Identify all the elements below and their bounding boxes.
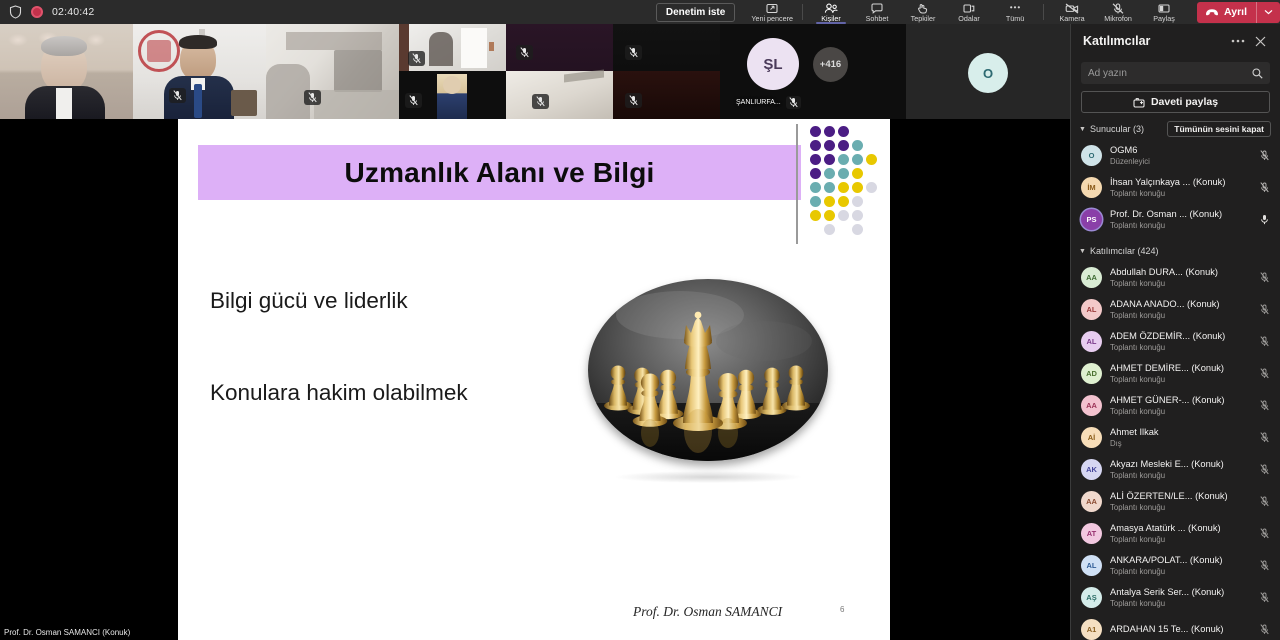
avatar: İM <box>1081 177 1102 198</box>
camera-off-icon <box>1065 3 1079 14</box>
toolbar-item-rooms[interactable]: Odalar <box>946 0 992 24</box>
recording-status: 02:40:42 <box>0 5 94 19</box>
microphone-off-icon <box>1112 3 1124 14</box>
breakout-rooms-icon <box>963 3 975 14</box>
video-tile-2[interactable] <box>133 24 266 119</box>
mic-off-badge <box>625 93 642 108</box>
list-item[interactable]: AL ADANA ANADO... (Konuk) Toplantı konuğ… <box>1071 293 1280 325</box>
slide-body-line: Konulara hakim olabilmek <box>210 381 610 406</box>
more-ellipsis-icon[interactable] <box>1226 39 1250 43</box>
group-header-presenters[interactable]: ▼ Sunucular (3) Tümünün sesini kapat <box>1079 121 1271 137</box>
participant-role: Toplantı konuğu <box>1110 406 1257 417</box>
participant-role: Toplantı konuğu <box>1110 188 1257 199</box>
mic-off-icon[interactable] <box>1257 336 1271 347</box>
reactions-icon <box>917 3 930 14</box>
list-item[interactable]: İM İhsan Yalçınkaya ... (Konuk) Toplantı… <box>1071 171 1280 203</box>
tile-participant-name: ŞANLIURFA... <box>736 99 781 106</box>
more-ellipsis-icon <box>1008 3 1022 14</box>
participant-role: Toplantı konuğu <box>1110 534 1257 545</box>
shared-content-stage: Uzmanlık Alanı ve Bilgi <box>0 119 1070 640</box>
group-header-attendees[interactable]: ▼ Katılımcılar (424) <box>1079 243 1271 259</box>
leave-button-label: Ayrıl <box>1224 6 1247 18</box>
participant-role: Toplantı konuğu <box>1110 220 1257 231</box>
avatar-initials: AA <box>1086 497 1097 506</box>
avatar-initials: ŞL <box>763 56 782 73</box>
toolbar-label: Kişiler <box>821 14 841 24</box>
avatar-initials: O <box>983 66 993 81</box>
avatar-initials: PS <box>1086 215 1096 224</box>
overflow-participants-badge[interactable]: +416 <box>813 47 848 82</box>
toolbar-item-new-window[interactable]: Yeni pencere <box>747 0 797 24</box>
avatar: AT <box>1081 523 1102 544</box>
avatar: AŞ <box>1081 587 1102 608</box>
video-tile-1[interactable] <box>0 24 133 119</box>
slide-title-band: Uzmanlık Alanı ve Bilgi <box>198 145 801 200</box>
mic-off-icon[interactable] <box>1257 272 1271 283</box>
toolbar-item-chat[interactable]: Sohbet <box>854 0 900 24</box>
chess-queen-and-pawns-image <box>588 279 828 461</box>
avatar-initials: O <box>1089 151 1095 160</box>
mic-off-icon[interactable] <box>1257 496 1271 507</box>
slide-body-text: Bilgi gücü ve liderlik Konulara hakim ol… <box>210 289 610 406</box>
slide-author: Prof. Dr. Osman SAMANCI <box>633 604 782 620</box>
list-item[interactable]: A1 ARDAHAN 15 Te... (Konuk) <box>1071 613 1280 640</box>
mic-off-icon[interactable] <box>1257 368 1271 379</box>
participant-search[interactable] <box>1081 62 1270 84</box>
avatar-initials: AA <box>1086 401 1097 410</box>
participant-name: Prof. Dr. Osman ... (Konuk) <box>1110 208 1257 220</box>
avatar-initials: A1 <box>1087 625 1097 634</box>
avatar: AL <box>1081 555 1102 576</box>
recording-timer: 02:40:42 <box>52 6 94 18</box>
participant-name: ANKARA/POLAT... (Konuk) <box>1110 554 1257 566</box>
mic-off-badge <box>408 51 425 66</box>
caret-down-icon: ▼ <box>1079 248 1086 255</box>
list-item[interactable]: Aİ Ahmet Ilkak Dış <box>1071 421 1280 453</box>
toolbar-actions: Yeni pencere Kişiler Sohbet Tepkiler <box>747 0 1187 24</box>
participant-role: Toplantı konuğu <box>1110 566 1257 577</box>
teams-meeting-window: 02:40:42 Denetim iste Yeni pencere Kişil… <box>0 0 1280 640</box>
mic-off-badge <box>405 93 422 108</box>
share-invite-button[interactable]: Daveti paylaş <box>1081 91 1270 113</box>
toolbar-label: Yeni pencere <box>751 14 793 24</box>
participant-role: Dış <box>1110 438 1257 449</box>
mic-on-icon[interactable] <box>1257 214 1271 225</box>
avatar: O <box>1081 145 1102 166</box>
chevron-down-icon[interactable] <box>1257 2 1280 23</box>
slide-body-line: Bilgi gücü ve liderlik <box>210 289 610 314</box>
search-input[interactable] <box>1088 68 1252 79</box>
list-item[interactable]: AL ADEM ÖZDEMİR... (Konuk) Toplantı konu… <box>1071 325 1280 357</box>
panel-title: Katılımcılar <box>1083 34 1226 48</box>
meeting-toolbar: 02:40:42 Denetim iste Yeni pencere Kişil… <box>0 0 1280 24</box>
mic-off-icon[interactable] <box>1257 400 1271 411</box>
avatar-initials: AL <box>1087 337 1097 346</box>
toolbar-label: Tümü <box>1006 14 1024 24</box>
toolbar-item-people[interactable]: Kişiler <box>808 0 854 24</box>
list-item[interactable]: AT Amasya Atatürk ... (Konuk) Toplantı k… <box>1071 517 1280 549</box>
toolbar-item-camera[interactable]: Kamera <box>1049 0 1095 24</box>
mic-off-icon[interactable] <box>1257 624 1271 635</box>
participant-name: ALİ ÖZERTEN/LE... (Konuk) <box>1110 490 1257 502</box>
slide-decoration-rule <box>796 124 798 244</box>
toolbar-label: Paylaş <box>1153 14 1175 24</box>
video-tile-3[interactable] <box>266 24 399 119</box>
avatar: A1 <box>1081 619 1102 640</box>
toolbar-divider <box>802 4 803 20</box>
toolbar-label: Tepkiler <box>911 14 936 24</box>
mic-off-icon[interactable] <box>1257 150 1271 161</box>
participant-role: Toplantı konuğu <box>1110 470 1257 481</box>
toolbar-label: Kamera <box>1059 14 1084 24</box>
record-indicator-icon <box>31 6 43 18</box>
presenters-list: O OGM6 Düzenleyici İM İhsan Yalçınkaya .… <box>1071 139 1280 235</box>
toolbar-label: Odalar <box>958 14 980 24</box>
avatar: AA <box>1081 395 1102 416</box>
avatar: AL <box>1081 299 1102 320</box>
mic-off-icon[interactable] <box>1257 182 1271 193</box>
avatar: AA <box>1081 267 1102 288</box>
mic-off-icon[interactable] <box>1257 592 1271 603</box>
participants-panel: Katılımcılar Daveti paylaş ▼ Sunucular (… <box>1070 24 1280 640</box>
avatar-initials: AA <box>1086 273 1097 282</box>
presentation-slide: Uzmanlık Alanı ve Bilgi <box>178 119 890 640</box>
participants-panel-header: Katılımcılar <box>1071 24 1280 58</box>
list-item[interactable]: AA AHMET GÜNER-... (Konuk) Toplantı konu… <box>1071 389 1280 421</box>
avatar: PS <box>1081 209 1102 230</box>
avatar: AK <box>1081 459 1102 480</box>
mic-off-badge <box>169 88 186 103</box>
overflow-count: +416 <box>820 59 841 70</box>
group-label: Sunucular (3) <box>1090 124 1167 134</box>
list-item[interactable]: AA Abdullah DURA... (Konuk) Toplantı kon… <box>1071 261 1280 293</box>
mic-off-icon[interactable] <box>1257 560 1271 571</box>
participant-name: Ahmet Ilkak <box>1110 426 1257 438</box>
avatar-initials: AK <box>1086 465 1097 474</box>
list-item[interactable]: AK Akyazı Mesleki E... (Konuk) Toplantı … <box>1071 453 1280 485</box>
caret-down-icon: ▼ <box>1079 126 1086 133</box>
participant-role: Düzenleyici <box>1110 156 1257 167</box>
avatar-initials: AD <box>1086 369 1097 378</box>
participant-role: Toplantı konuğu <box>1110 310 1257 321</box>
participant-name: Antalya Serik Ser... (Konuk) <box>1110 586 1257 598</box>
video-tile-4[interactable] <box>399 24 506 119</box>
list-item[interactable]: O OGM6 Düzenleyici <box>1071 139 1280 171</box>
slide-dot-decoration <box>796 124 888 249</box>
close-icon[interactable] <box>1250 36 1271 47</box>
participant-name: Amasya Atatürk ... (Konuk) <box>1110 522 1257 534</box>
slide-page-number: 6 <box>840 605 844 614</box>
toolbar-label: Mikrofon <box>1104 14 1132 24</box>
chess-image <box>588 279 838 489</box>
share-screen-icon <box>1158 3 1170 14</box>
participant-role: Toplantı konuğu <box>1110 278 1257 289</box>
group-label: Katılımcılar (424) <box>1090 246 1271 256</box>
search-icon <box>1252 68 1263 79</box>
participant-role: Toplantı konuğu <box>1110 502 1257 513</box>
request-control-button[interactable]: Denetim iste <box>656 3 735 22</box>
toolbar-item-share[interactable]: Paylaş <box>1141 0 1187 24</box>
share-invite-icon <box>1133 97 1145 108</box>
leave-meeting-control[interactable]: Ayrıl <box>1197 2 1280 23</box>
mute-all-button[interactable]: Tümünün sesini kapat <box>1167 121 1271 137</box>
leave-button[interactable]: Ayrıl <box>1197 2 1256 23</box>
chat-icon <box>871 3 883 14</box>
avatar: AD <box>1081 363 1102 384</box>
avatar: ŞL <box>747 38 799 90</box>
hangup-icon <box>1205 8 1219 17</box>
participant-name: Akyazı Mesleki E... (Konuk) <box>1110 458 1257 470</box>
mic-off-icon[interactable] <box>1257 304 1271 315</box>
video-tile-5[interactable] <box>506 24 613 119</box>
avatar: AA <box>1081 491 1102 512</box>
video-tile-spotlight[interactable]: O <box>906 24 1070 119</box>
toolbar-item-more[interactable]: Tümü <box>992 0 1038 24</box>
video-tile-avatars[interactable]: ŞL ŞANLIURFA... +416 <box>720 24 906 119</box>
shield-icon <box>9 5 22 19</box>
attendees-list: AA Abdullah DURA... (Konuk) Toplantı kon… <box>1071 261 1280 640</box>
participant-name: İhsan Yalçınkaya ... (Konuk) <box>1110 176 1257 188</box>
participant-name: ADANA ANADO... (Konuk) <box>1110 298 1257 310</box>
avatar: O <box>968 53 1008 93</box>
avatar-initials: AL <box>1087 561 1097 570</box>
video-tile-6[interactable] <box>613 24 720 119</box>
participant-name: OGM6 <box>1110 144 1257 156</box>
new-window-icon <box>766 3 778 14</box>
share-invite-label: Daveti paylaş <box>1151 96 1218 108</box>
participant-role: Toplantı konuğu <box>1110 374 1257 385</box>
mic-off-icon[interactable] <box>1257 464 1271 475</box>
list-item[interactable]: AL ANKARA/POLAT... (Konuk) Toplantı konu… <box>1071 549 1280 581</box>
mic-off-icon[interactable] <box>1257 432 1271 443</box>
people-icon <box>824 3 838 14</box>
avatar: Aİ <box>1081 427 1102 448</box>
mic-off-badge <box>786 96 801 109</box>
list-item[interactable]: PS Prof. Dr. Osman ... (Konuk) Toplantı … <box>1071 203 1280 235</box>
list-item[interactable]: AD AHMET DEMİRE... (Konuk) Toplantı konu… <box>1071 357 1280 389</box>
toolbar-divider <box>1043 4 1044 20</box>
toolbar-label: Sohbet <box>866 14 889 24</box>
mic-off-badge <box>532 94 549 109</box>
avatar-initials: AL <box>1087 305 1097 314</box>
mic-off-badge <box>516 45 533 60</box>
participant-role: Toplantı konuğu <box>1110 598 1257 609</box>
avatar-initials: AŞ <box>1086 593 1096 602</box>
chess-image-shadow <box>616 471 801 483</box>
participant-name: ARDAHAN 15 Te... (Konuk) <box>1110 623 1257 635</box>
toolbar-item-reactions[interactable]: Tepkiler <box>900 0 946 24</box>
avatar-initials: AT <box>1087 529 1096 538</box>
mic-off-icon[interactable] <box>1257 528 1271 539</box>
participant-name: AHMET GÜNER-... (Konuk) <box>1110 394 1257 406</box>
video-thumbnail-strip: ŞL ŞANLIURFA... +416 O <box>0 24 1070 119</box>
list-item[interactable]: AŞ Antalya Serik Ser... (Konuk) Toplantı… <box>1071 581 1280 613</box>
list-item[interactable]: AA ALİ ÖZERTEN/LE... (Konuk) Toplantı ko… <box>1071 485 1280 517</box>
mic-off-badge <box>304 90 321 105</box>
avatar-initials: İM <box>1087 183 1095 192</box>
participant-name: Abdullah DURA... (Konuk) <box>1110 266 1257 278</box>
presenter-name-label: Prof. Dr. Osman SAMANCI (Konuk) <box>4 628 130 637</box>
participant-role: Toplantı konuğu <box>1110 342 1257 353</box>
avatar-initials: Aİ <box>1088 433 1096 442</box>
toolbar-item-microphone[interactable]: Mikrofon <box>1095 0 1141 24</box>
participant-name: AHMET DEMİRE... (Konuk) <box>1110 362 1257 374</box>
participant-name: ADEM ÖZDEMİR... (Konuk) <box>1110 330 1257 342</box>
avatar: AL <box>1081 331 1102 352</box>
slide-title: Uzmanlık Alanı ve Bilgi <box>344 157 654 189</box>
mic-off-badge <box>625 45 642 60</box>
